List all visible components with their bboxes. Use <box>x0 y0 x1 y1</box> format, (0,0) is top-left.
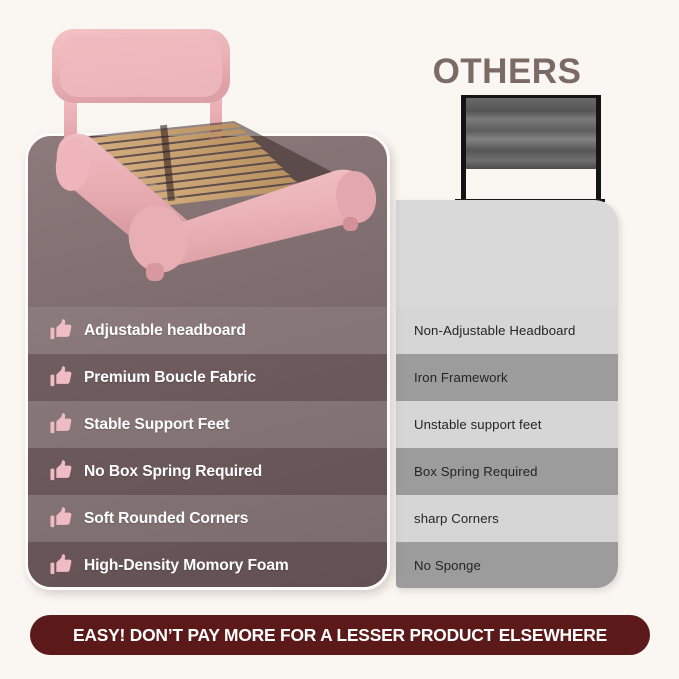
others-heading: OTHERS <box>396 52 618 92</box>
others-feature-list: Non-Adjustable Headboard Iron Framework … <box>396 307 618 588</box>
metal-headboard <box>461 95 601 169</box>
others-row-label: Iron Framework <box>414 370 508 385</box>
product-row-label: Adjustable headboard <box>84 322 246 340</box>
others-row: Box Spring Required <box>396 448 618 495</box>
product-row: No Box Spring Required <box>28 448 387 495</box>
others-row: sharp Corners <box>396 495 618 542</box>
product-row: Stable Support Feet <box>28 401 387 448</box>
others-row-label: Unstable support feet <box>414 417 541 432</box>
thumbs-up-icon <box>50 319 73 342</box>
promo-banner-text: EASY! DON’T PAY MORE FOR A LESSER PRODUC… <box>73 625 607 646</box>
thumbs-up-icon <box>50 554 73 577</box>
comparison-infographic: OTHERS Non-Adjustable Headboard Iron Fra… <box>0 0 679 679</box>
metal-post-left <box>461 95 466 207</box>
others-row-label: sharp Corners <box>414 511 499 526</box>
others-row: Unstable support feet <box>396 401 618 448</box>
thumbs-up-icon <box>50 507 73 530</box>
others-row-label: Non-Adjustable Headboard <box>414 323 576 338</box>
product-row: Premium Boucle Fabric <box>28 354 387 401</box>
product-row: Adjustable headboard <box>28 307 387 354</box>
product-row-label: No Box Spring Required <box>84 463 262 481</box>
product-row-label: Premium Boucle Fabric <box>84 369 256 387</box>
product-card: Adjustable headboard Premium Boucle Fabr… <box>25 133 390 590</box>
product-row-label: Stable Support Feet <box>84 416 229 434</box>
thumbs-up-icon <box>50 366 73 389</box>
others-panel: Non-Adjustable Headboard Iron Framework … <box>396 200 618 588</box>
others-row: Iron Framework <box>396 354 618 401</box>
promo-banner: EASY! DON’T PAY MORE FOR A LESSER PRODUC… <box>30 615 650 655</box>
product-row-label: Soft Rounded Corners <box>84 510 248 528</box>
others-row: Non-Adjustable Headboard <box>396 307 618 354</box>
thumbs-up-icon <box>50 413 73 436</box>
others-row: No Sponge <box>396 542 618 588</box>
product-row: High-Density Momory Foam <box>28 542 387 589</box>
product-row-label: High-Density Momory Foam <box>84 557 289 575</box>
pink-headboard <box>52 29 230 103</box>
thumbs-up-icon <box>50 460 73 483</box>
others-row-label: No Sponge <box>414 558 481 573</box>
product-row: Soft Rounded Corners <box>28 495 387 542</box>
others-row-label: Box Spring Required <box>414 464 538 479</box>
product-feature-list: Adjustable headboard Premium Boucle Fabr… <box>28 307 387 589</box>
